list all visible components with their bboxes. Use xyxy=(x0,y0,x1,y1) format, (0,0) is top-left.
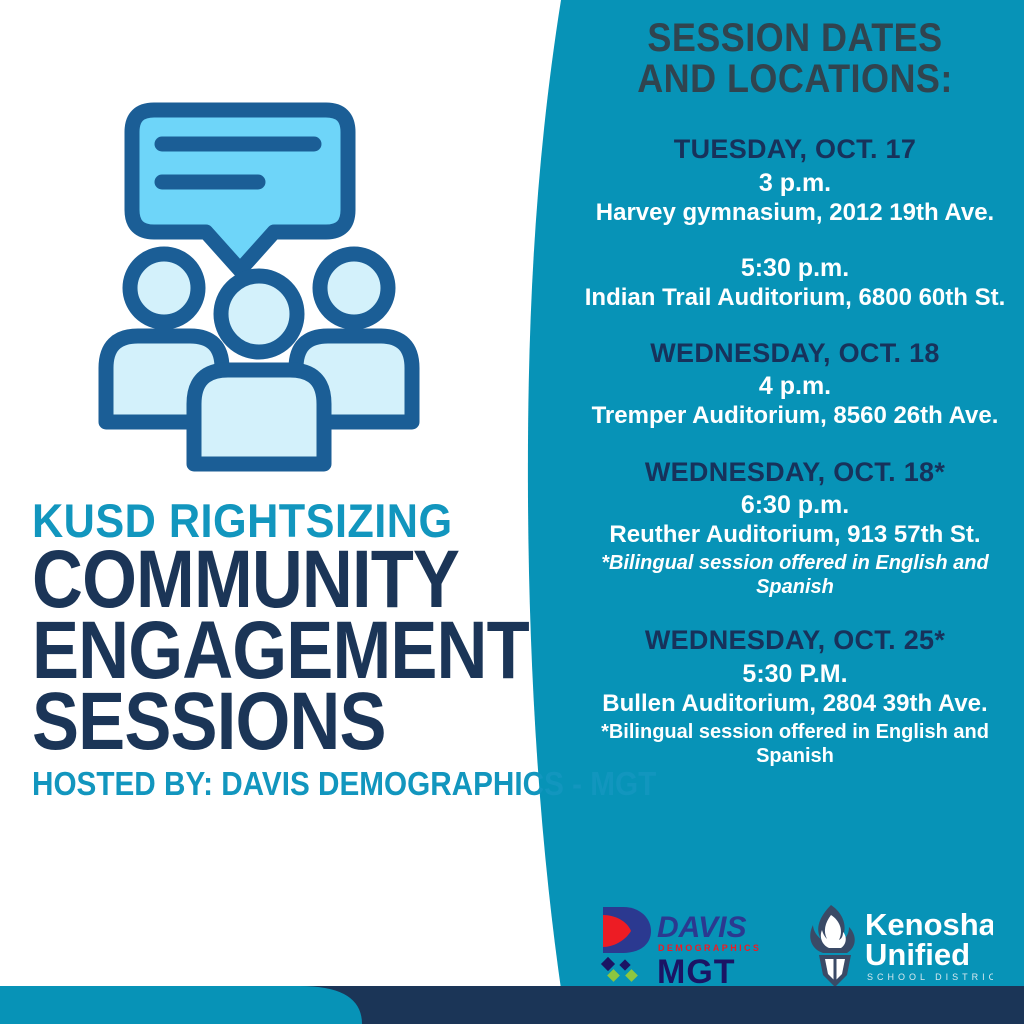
session-item: WEDNESDAY, OCT. 18*6:30 p.m.Reuther Audi… xyxy=(566,457,1024,600)
svg-text:DAVIS: DAVIS xyxy=(657,911,746,944)
sessions-heading-line-1: SESSION DATES xyxy=(589,18,1001,59)
session-date: WEDNESDAY, OCT. 25* xyxy=(566,625,1024,655)
community-discussion-icon xyxy=(98,92,428,482)
session-time: 6:30 p.m. xyxy=(566,490,1024,520)
session-time: 4 p.m. xyxy=(566,371,1024,401)
session-date: TUESDAY, OCT. 17 xyxy=(566,134,1024,164)
session-location: Harvey gymnasium, 2012 19th Ave. xyxy=(566,199,1024,227)
session-time: 3 p.m. xyxy=(566,168,1024,198)
session-location: Bullen Auditorium, 2804 39th Ave. xyxy=(566,690,1024,718)
svg-text:MGT: MGT xyxy=(657,953,736,987)
session-date: WEDNESDAY, OCT. 18* xyxy=(566,457,1024,487)
sessions-heading: SESSION DATES AND LOCATIONS: xyxy=(566,18,1024,100)
footer-url[interactable]: kusd.edu/rightsizing xyxy=(18,0,190,38)
session-item: WEDNESDAY, OCT. 184 p.m.Tremper Auditori… xyxy=(566,338,1024,431)
kenosha-unified-school-district-logo: Kenosha Unified SCHOOL DISTRICT xyxy=(803,901,993,987)
session-location: Reuther Auditorium, 913 57th St. xyxy=(566,521,1024,549)
title-block: KUSD RIGHTSIZING COMMUNITY ENGAGEMENT SE… xyxy=(32,498,532,800)
session-item: TUESDAY, OCT. 173 p.m.Harvey gymnasium, … xyxy=(566,134,1024,227)
session-location: Tremper Auditorium, 8560 26th Ave. xyxy=(566,402,1024,430)
sessions-heading-line-2: AND LOCATIONS: xyxy=(589,59,1001,100)
sessions-column: SESSION DATES AND LOCATIONS: TUESDAY, OC… xyxy=(566,0,1024,900)
session-bilingual-note: *Bilingual session offered in English an… xyxy=(566,551,1024,599)
session-date: WEDNESDAY, OCT. 18 xyxy=(566,338,1024,368)
session-location: Indian Trail Auditorium, 6800 60th St. xyxy=(566,284,1024,312)
davis-demographics-logo: DAVIS DEMOGRAPHICS MGT xyxy=(597,901,767,987)
session-bilingual-note: *Bilingual session offered in English an… xyxy=(566,720,1024,768)
svg-text:DEMOGRAPHICS: DEMOGRAPHICS xyxy=(658,943,761,953)
svg-text:SCHOOL DISTRICT: SCHOOL DISTRICT xyxy=(867,972,993,982)
session-item: WEDNESDAY, OCT. 25*5:30 P.M.Bullen Audit… xyxy=(566,625,1024,768)
partner-logos: DAVIS DEMOGRAPHICS MGT K xyxy=(566,898,1024,990)
title-line-3: SESSIONS xyxy=(32,688,462,757)
session-time: 5:30 P.M. xyxy=(566,659,1024,689)
session-time: 5:30 p.m. xyxy=(566,253,1024,283)
session-list: TUESDAY, OCT. 173 p.m.Harvey gymnasium, … xyxy=(566,134,1024,768)
footer-bar xyxy=(0,986,1024,1024)
hosted-by-label: HOSTED BY: DAVIS DEMOGRAPHICS - MGT xyxy=(32,767,482,800)
left-column: KUSD RIGHTSIZING COMMUNITY ENGAGEMENT SE… xyxy=(0,0,545,996)
session-item: 5:30 p.m.Indian Trail Auditorium, 6800 6… xyxy=(566,253,1024,312)
svg-text:Unified: Unified xyxy=(865,937,970,972)
poster-canvas: KUSD RIGHTSIZING COMMUNITY ENGAGEMENT SE… xyxy=(0,0,1024,1024)
